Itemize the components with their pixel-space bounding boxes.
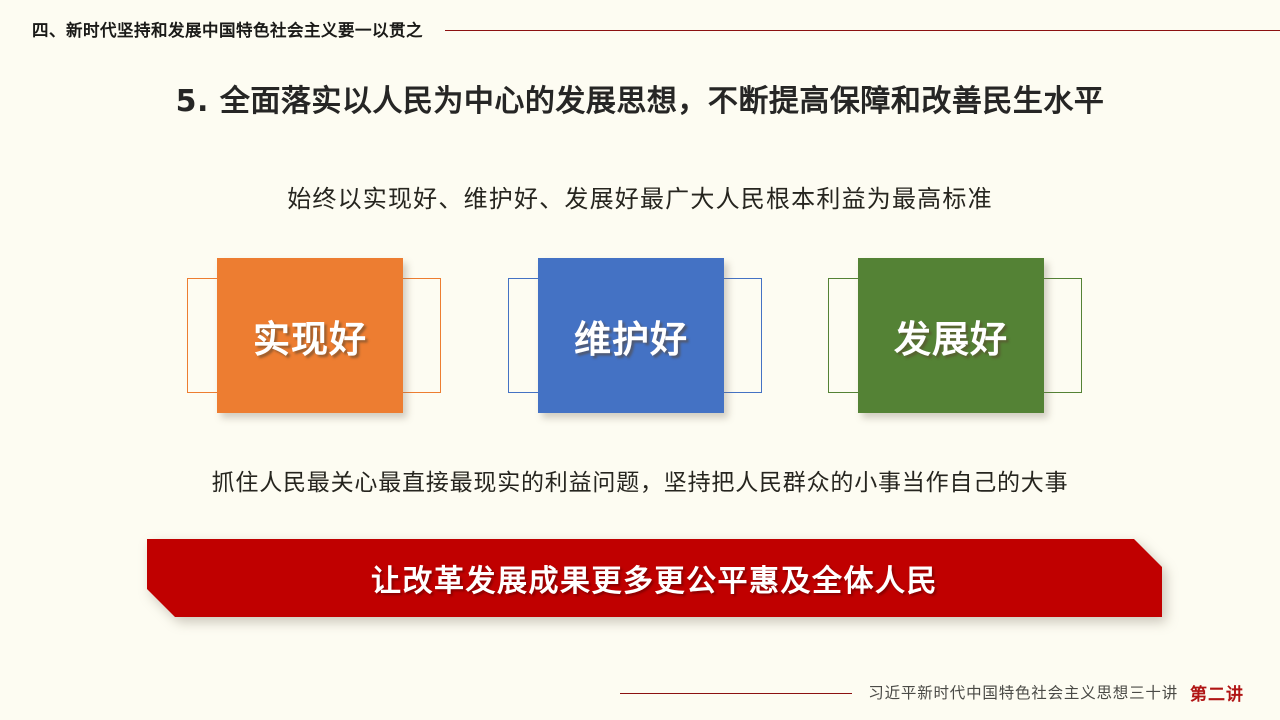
concept-box-3-fill: 发展好	[858, 258, 1044, 413]
slide-footer: 习近平新时代中国特色社会主义思想三十讲 第二讲	[620, 680, 1244, 704]
subtitle-text: 始终以实现好、维护好、发展好最广大人民根本利益为最高标准	[0, 179, 1280, 214]
mid-description-text: 抓住人民最关心最直接最现实的利益问题，坚持把人民群众的小事当作自己的大事	[0, 463, 1280, 497]
conclusion-banner-label: 让改革发展成果更多更公平惠及全体人民	[371, 556, 938, 600]
footer-lecture-badge: 第二讲	[1190, 680, 1244, 705]
concept-box-3: 发展好	[822, 258, 1092, 428]
concept-box-1-fill: 实现好	[217, 258, 403, 413]
concept-box-2-fill: 维护好	[538, 258, 724, 413]
conclusion-banner-shape: 让改革发展成果更多更公平惠及全体人民	[147, 539, 1162, 617]
concept-boxes-row: 实现好 维护好 发展好	[0, 258, 1280, 428]
footer-divider-line	[620, 693, 852, 694]
concept-box-3-label: 发展好	[894, 309, 1008, 363]
concept-box-2: 维护好	[502, 258, 772, 428]
slide-header: 四、新时代坚持和发展中国特色社会主义要一以贯之	[0, 14, 1280, 44]
conclusion-banner: 让改革发展成果更多更公平惠及全体人民	[147, 539, 1162, 617]
concept-box-2-label: 维护好	[574, 309, 688, 363]
concept-box-1-label: 实现好	[253, 309, 367, 363]
section-title: 四、新时代坚持和发展中国特色社会主义要一以贯之	[32, 17, 423, 41]
header-divider-line	[445, 30, 1280, 31]
footer-series-text: 习近平新时代中国特色社会主义思想三十讲	[868, 681, 1178, 703]
concept-box-1: 实现好	[181, 258, 451, 428]
page-title: 5. 全面落实以人民为中心的发展思想，不断提高保障和改善民生水平	[0, 76, 1280, 120]
